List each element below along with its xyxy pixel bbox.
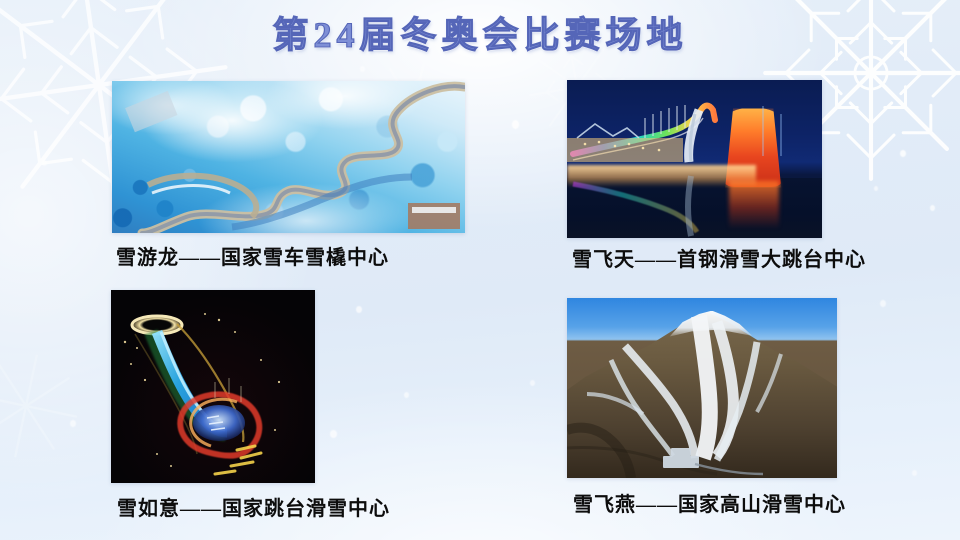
- snow-dot: [930, 205, 935, 211]
- snow-dot: [42, 160, 47, 166]
- slide-title-container: 第24届冬奥会比赛场地: [0, 8, 960, 62]
- venue-figure-1: 雪游龙——国家雪车雪橇中心: [112, 81, 465, 233]
- venue-figure-2: 雪飞天——首钢滑雪大跳台中心: [567, 80, 822, 238]
- snow-dot: [512, 120, 519, 129]
- venue-figure-3: 雪如意——国家跳台滑雪中心: [111, 290, 315, 483]
- snow-dot: [900, 150, 906, 157]
- venue-caption-3: 雪如意——国家跳台滑雪中心: [117, 492, 390, 521]
- snow-dot: [874, 186, 878, 191]
- snowflake-icon: [0, 330, 102, 482]
- venue-figure-4: 雪飞燕——国家高山滑雪中心: [567, 298, 837, 478]
- snow-dot: [912, 470, 917, 476]
- venue-image-national-ski-jumping-centre: [111, 290, 315, 483]
- snow-dot: [360, 66, 365, 72]
- slide-root: 第24届冬奥会比赛场地 雪游龙——国家雪车雪橇中心: [0, 0, 960, 540]
- snow-dot: [880, 300, 886, 307]
- snow-dot: [330, 430, 337, 438]
- snow-dot: [530, 380, 535, 386]
- snow-dot: [70, 420, 76, 427]
- venue-image-national-sliding-centre: [112, 81, 465, 233]
- snow-dot: [404, 392, 409, 398]
- venue-caption-2: 雪飞天——首钢滑雪大跳台中心: [572, 243, 866, 272]
- venue-image-shougang-big-air: [567, 80, 822, 238]
- page-title: 第24届冬奥会比赛场地: [272, 8, 687, 62]
- venue-image-national-alpine-skiing-centre: [567, 298, 837, 478]
- venue-caption-4: 雪飞燕——国家高山滑雪中心: [573, 488, 846, 517]
- snow-dot: [356, 306, 362, 313]
- venue-caption-1: 雪游龙——国家雪车雪橇中心: [116, 241, 389, 270]
